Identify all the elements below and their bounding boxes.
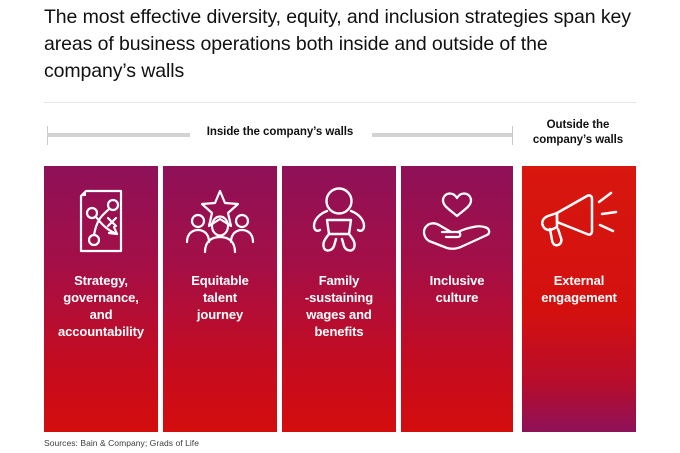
card-label: Family -sustaining wages and benefits bbox=[282, 272, 396, 340]
people-star-icon bbox=[184, 180, 256, 262]
source-note: Sources: Bain & Company; Grads of Life bbox=[44, 438, 199, 448]
card-label: External engagement bbox=[522, 272, 636, 306]
hand-heart-icon bbox=[420, 180, 494, 262]
card-strategy-governance-accountability[interactable]: Strategy, governance, and accountability bbox=[44, 166, 158, 432]
bracket-bar-right bbox=[372, 133, 512, 137]
strategy-cards-row: Strategy, governance, and accountability… bbox=[0, 166, 680, 432]
card-equitable-talent-journey[interactable]: Equitable talent journey bbox=[163, 166, 277, 432]
card-inclusive-culture[interactable]: Inclusive culture bbox=[401, 166, 513, 432]
card-family-sustaining-wages-benefits[interactable]: Family -sustaining wages and benefits bbox=[282, 166, 396, 432]
title-divider bbox=[44, 102, 636, 103]
inside-walls-label: Inside the company’s walls bbox=[190, 126, 370, 138]
outside-walls-label: Outside the company’s walls bbox=[518, 118, 638, 148]
baby-icon bbox=[308, 180, 370, 262]
bracket-right-cap bbox=[512, 126, 513, 145]
strategy-playbook-icon bbox=[73, 180, 129, 262]
megaphone-icon bbox=[537, 180, 621, 262]
group-bracket-header: Inside the company’s walls Outside the c… bbox=[0, 118, 680, 156]
card-label: Inclusive culture bbox=[401, 272, 513, 306]
page-title: The most effective diversity, equity, an… bbox=[44, 4, 644, 85]
card-external-engagement[interactable]: External engagement bbox=[522, 166, 636, 432]
card-label: Strategy, governance, and accountability bbox=[44, 272, 158, 340]
card-label: Equitable talent journey bbox=[163, 272, 277, 323]
bracket-bar-left bbox=[47, 133, 190, 137]
